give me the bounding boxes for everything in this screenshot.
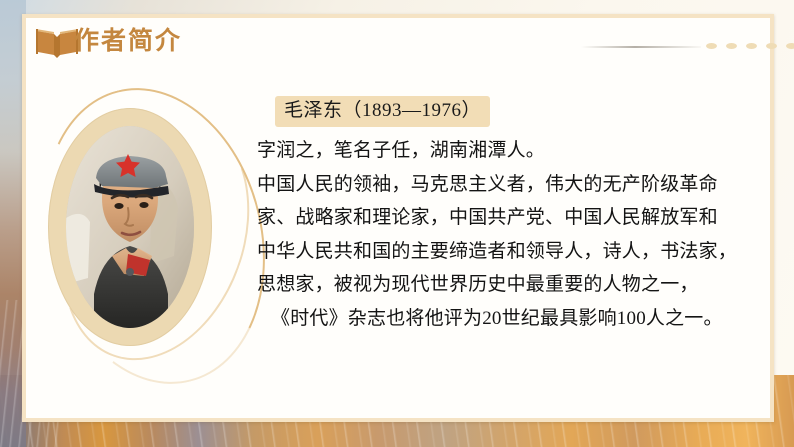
- header-divider-line: [581, 46, 701, 48]
- bio-line: 《时代》杂志也将他评为20世纪最具影响100人之一。: [257, 302, 762, 336]
- header-decor-dots: [706, 43, 794, 49]
- decor-dot: [786, 43, 794, 49]
- decor-dot: [706, 43, 717, 49]
- bio-line: 思想家，被视为现代世界历史中最重要的人物之一，: [257, 268, 762, 302]
- bio-paragraph: 字润之，笔名子任，湖南湘潭人。 中国人民的领袖，马克思主义者，伟大的无产阶级革命…: [257, 134, 762, 335]
- bio-line: 中国人民的领袖，马克思主义者，伟大的无产阶级革命: [257, 168, 762, 202]
- bio-line: 中华人民共和国的主要缔造者和领导人，诗人，书法家，: [257, 235, 762, 269]
- author-bio: 毛泽东（1893—1976） 字润之，笔名子任，湖南湘潭人。 中国人民的领袖，马…: [257, 96, 762, 335]
- slide-root: 作者简介: [0, 0, 794, 447]
- page-title: 作者简介: [74, 22, 182, 60]
- author-name-line: 毛泽东（1893—1976）: [275, 96, 490, 127]
- decor-dot: [766, 43, 777, 49]
- bio-line: 字润之，笔名子任，湖南湘潭人。: [257, 134, 762, 168]
- decor-dot: [726, 43, 737, 49]
- bio-line: 家、战略家和理论家，中国共产党、中国人民解放军和: [257, 201, 762, 235]
- portrait-block: [34, 88, 264, 388]
- decor-dot: [746, 43, 757, 49]
- content-card: 作者简介: [26, 18, 770, 418]
- section-header: 作者简介: [26, 18, 770, 74]
- avatar: [66, 126, 194, 328]
